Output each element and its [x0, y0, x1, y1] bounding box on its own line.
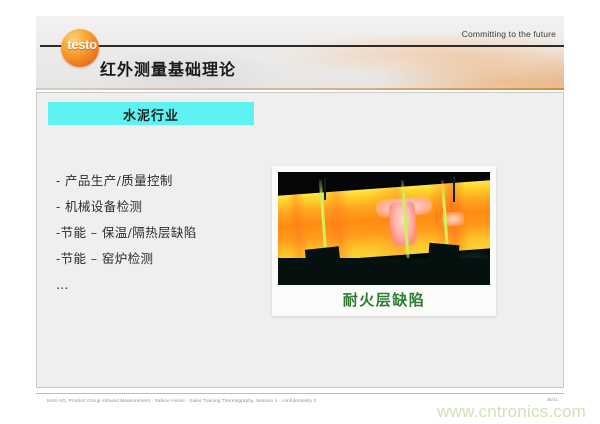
- list-item: - 产品生产/质量控制: [56, 168, 271, 194]
- thermal-image-rotary-kiln: [278, 172, 490, 285]
- list-item: …: [56, 272, 271, 298]
- list-item: - 机械设备检测: [56, 194, 271, 220]
- list-item: -节能 – 窑炉检测: [56, 246, 271, 272]
- footer-text: testo AG, Product Group Infrared Measure…: [47, 398, 316, 403]
- brand-tagline: Committing to the future: [462, 29, 556, 39]
- bullet-list: - 产品生产/质量控制 - 机械设备检测 -节能 – 保温/隔热层缺陷 -节能 …: [56, 168, 271, 298]
- page-title: 红外测量基础理论: [100, 56, 236, 80]
- pole-silhouette: [324, 178, 326, 200]
- watermark: www.cntronics.com: [437, 402, 586, 422]
- pole-silhouette: [453, 176, 455, 202]
- testo-logo-label: testo: [55, 38, 109, 52]
- header-divider-rule: [40, 45, 564, 47]
- presentation-slide: testo Committing to the future 红外测量基础理论 …: [0, 0, 600, 424]
- footer-divider: [36, 393, 564, 394]
- list-item: -节能 – 保温/隔热层缺陷: [56, 220, 271, 246]
- image-caption: 耐火层缺陷: [272, 289, 496, 310]
- foreground-dark-mass: [278, 258, 490, 285]
- section-title: 水泥行业: [48, 105, 254, 124]
